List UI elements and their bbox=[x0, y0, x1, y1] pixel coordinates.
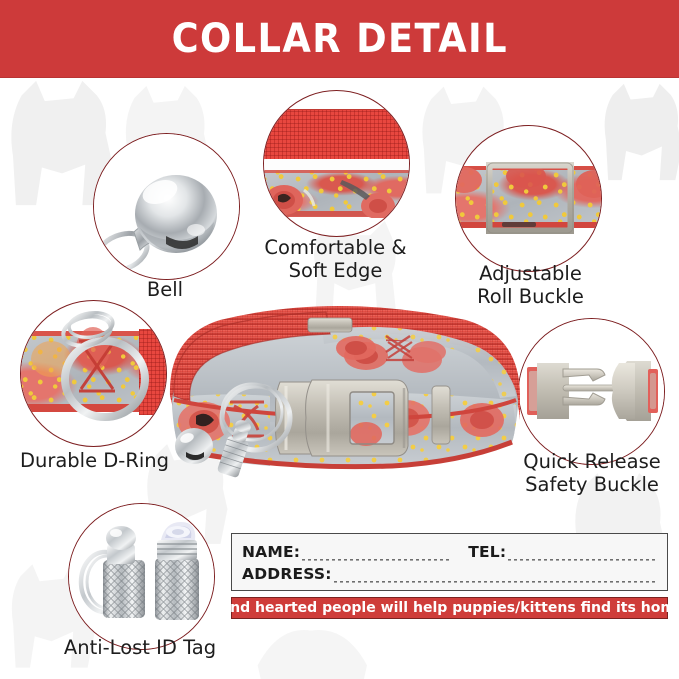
roll-buckle-photo bbox=[456, 126, 601, 271]
feature-circle-adjustable-roll-buckle bbox=[455, 125, 602, 272]
name-field-input[interactable] bbox=[302, 550, 450, 561]
feature-label-bell: Bell bbox=[95, 278, 235, 301]
feature-circle-anti-lost-id-tag bbox=[68, 503, 215, 650]
form-row-name-tel: NAME: TEL: bbox=[242, 543, 658, 561]
feature-label-anti-lost-id-tag: Anti-Lost ID Tag bbox=[50, 636, 230, 659]
dog-silhouette-watermark bbox=[588, 80, 679, 184]
form-row-address: ADDRESS: bbox=[242, 565, 658, 583]
feature-circle-quick-release-safety-buckle bbox=[518, 318, 665, 465]
address-field-input[interactable] bbox=[334, 572, 658, 583]
page-title: COLLAR DETAIL bbox=[171, 19, 507, 59]
kind-hearted-banner-text: Kind hearted people will help puppies/ki… bbox=[214, 600, 679, 616]
id-tag-card: NAME: TEL: ADDRESS: Kind hearted people … bbox=[231, 533, 668, 619]
bell-photo bbox=[94, 134, 239, 279]
d-ring-photo bbox=[21, 301, 166, 446]
tel-field-input[interactable] bbox=[508, 550, 658, 561]
header-banner: COLLAR DETAIL bbox=[0, 0, 679, 77]
tel-field-label: TEL: bbox=[468, 543, 506, 561]
feature-label-comfortable-soft-edge: Comfortable & Soft Edge bbox=[248, 236, 423, 282]
product-collar-image bbox=[160, 300, 530, 490]
feature-circle-bell bbox=[93, 133, 240, 280]
webbing-photo bbox=[264, 91, 409, 236]
kind-hearted-banner: Kind hearted people will help puppies/ki… bbox=[231, 597, 668, 619]
owner-info-form: NAME: TEL: ADDRESS: bbox=[231, 533, 668, 591]
name-field-label: NAME: bbox=[242, 543, 300, 561]
feature-label-durable-d-ring: Durable D-Ring bbox=[7, 449, 182, 472]
side-release-buckle-photo bbox=[519, 319, 664, 464]
id-capsule-photo bbox=[69, 504, 214, 649]
feature-label-quick-release-safety-buckle: Quick Release Safety Buckle bbox=[508, 450, 676, 496]
feature-circle-durable-d-ring bbox=[20, 300, 167, 447]
infographic-page: COLLAR DETAIL bbox=[0, 0, 679, 679]
feature-circle-comfortable-soft-edge bbox=[263, 90, 410, 237]
address-field-label: ADDRESS: bbox=[242, 565, 332, 583]
dog-silhouette-watermark bbox=[236, 612, 386, 679]
